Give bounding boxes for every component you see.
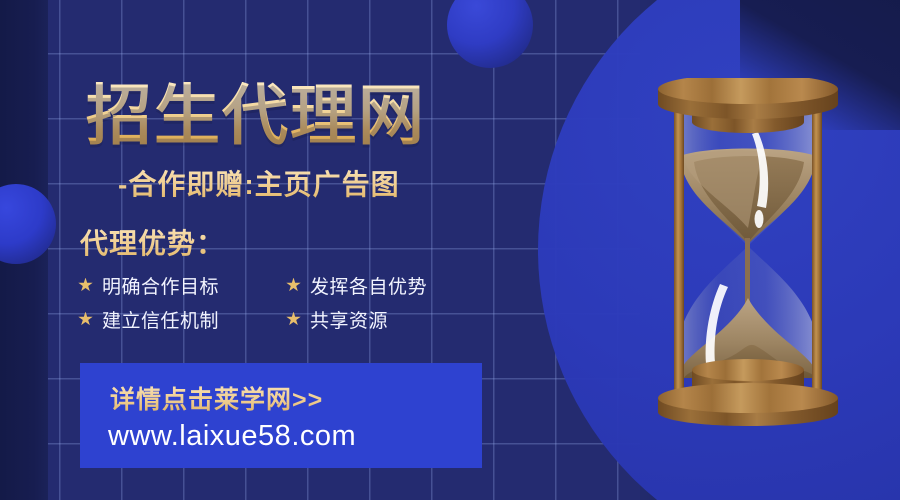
list-item: 建立信任机制: [78, 302, 286, 336]
advantages-list: 明确合作目标 发挥各自优势 建立信任机制 共享资源: [78, 268, 518, 336]
cta-headline: 详情点击莱学网>>: [110, 380, 323, 416]
list-item: 明确合作目标: [78, 268, 286, 302]
list-item: 共享资源: [286, 302, 494, 336]
star-icon: [286, 278, 301, 293]
advantages-heading: 代理优势：: [80, 222, 225, 262]
star-icon: [78, 312, 93, 327]
advantage-label: 共享资源: [310, 306, 388, 333]
poster-title: 招生代理网: [86, 82, 506, 148]
bottom-cap-inner-face: [692, 359, 804, 381]
right-post: [812, 100, 822, 402]
cta-website-url: www.laixue58.com: [108, 420, 356, 453]
star-icon: [78, 278, 93, 293]
glass-highlight-dot: [755, 210, 764, 228]
poster-canvas: 招生代理网 -合作即赠:主页广告图 代理优势： 明确合作目标 发挥各自优势 建立…: [0, 0, 900, 500]
left-post: [674, 100, 684, 402]
cta-box[interactable]: 详情点击莱学网>> www.laixue58.com: [80, 363, 482, 468]
text-content: 招生代理网 -合作即赠:主页广告图 代理优势： 明确合作目标 发挥各自优势 建立…: [0, 0, 540, 500]
advantage-label: 明确合作目标: [102, 272, 219, 299]
star-icon: [286, 312, 301, 327]
advantage-label: 发挥各自优势: [310, 272, 427, 299]
bottom-cap-face: [658, 383, 838, 413]
hourglass-illustration: [636, 78, 860, 426]
advantage-label: 建立信任机制: [102, 306, 219, 333]
poster-subtitle: -合作即赠:主页广告图: [118, 163, 400, 203]
list-item: 发挥各自优势: [286, 268, 494, 302]
